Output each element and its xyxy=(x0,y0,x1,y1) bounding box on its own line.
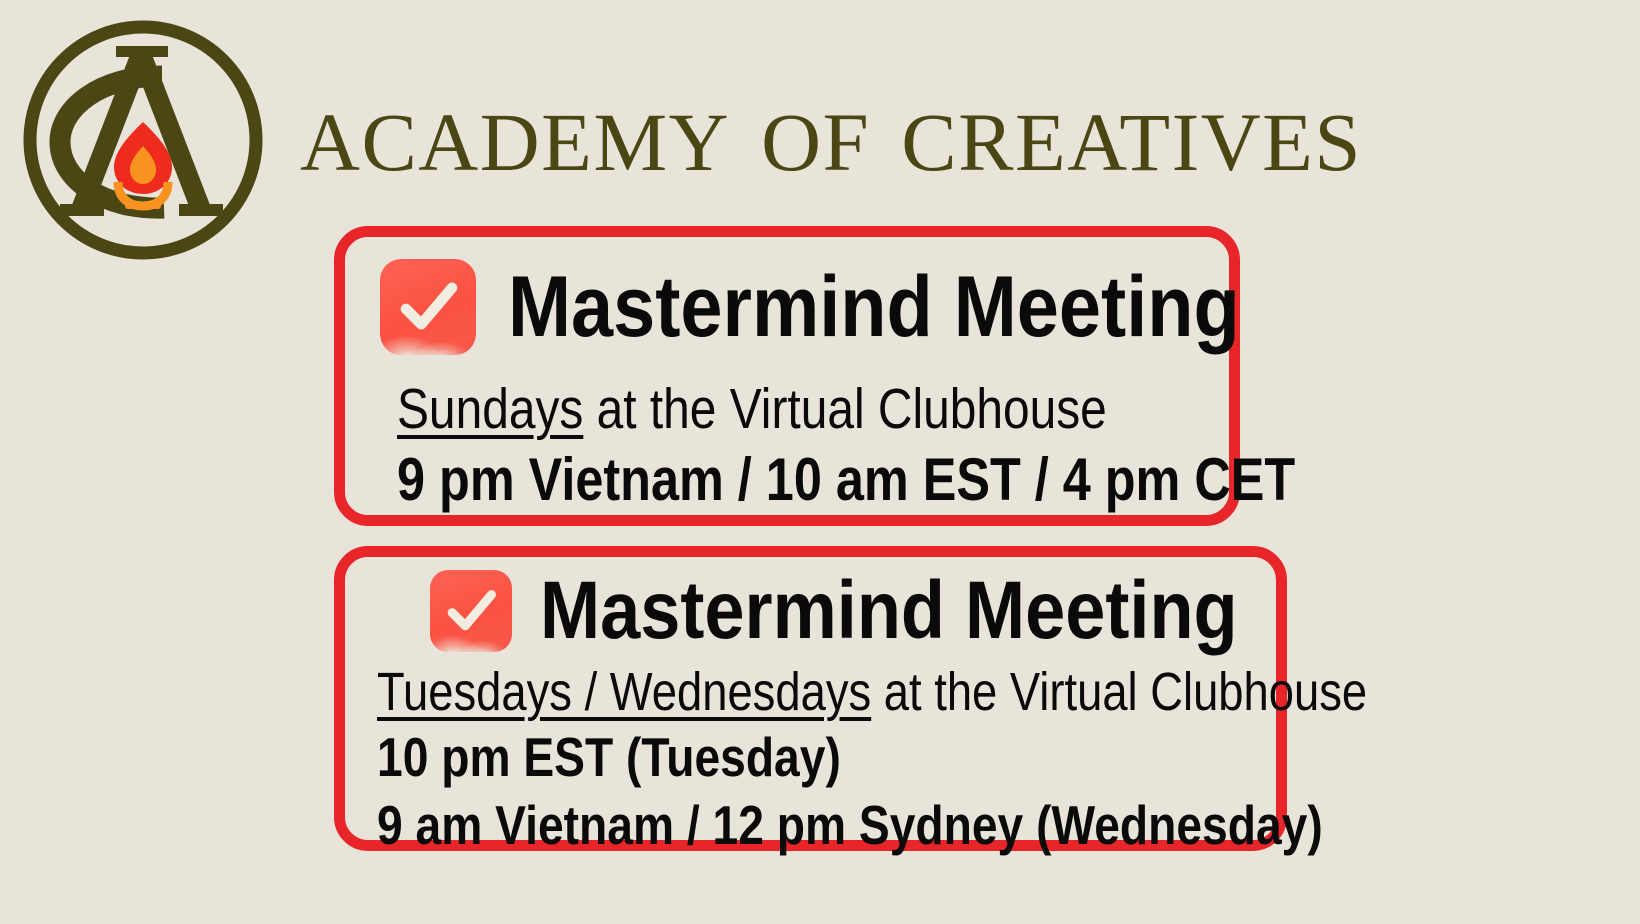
card-title: Mastermind Meeting xyxy=(508,261,1240,353)
checkbox-checked-icon xyxy=(380,259,476,355)
schedule-line-times-wednesday: 9 am Vietnam / 12 pm Sydney (Wednesday) xyxy=(377,791,1367,859)
card-header: Mastermind Meeting xyxy=(380,259,1339,355)
schedule-location: at the Virtual Clubhouse xyxy=(583,377,1106,441)
page-title: Academy of Creatives xyxy=(300,62,1636,202)
schedule-line-times-tuesday: 10 pm EST (Tuesday) xyxy=(377,723,1367,791)
checkbox-checked-icon xyxy=(430,570,512,652)
meeting-card-sunday: Mastermind Meeting Sundays at the Virtua… xyxy=(334,226,1240,526)
poster-canvas: Academy of Creatives Mastermind Meeting … xyxy=(0,0,1640,924)
schedule-day-underlined: Sundays xyxy=(397,377,583,441)
schedule-location: at the Virtual Clubhouse xyxy=(871,662,1367,722)
schedule-line-day: Tuesdays / Wednesdays at the Virtual Clu… xyxy=(377,661,1367,723)
schedule-line-day: Sundays at the Virtual Clubhouse xyxy=(397,377,1295,441)
card-title: Mastermind Meeting xyxy=(540,567,1238,655)
card-body: Sundays at the Virtual Clubhouse 9 pm Vi… xyxy=(397,377,1466,519)
academy-of-creatives-monogram-icon xyxy=(12,14,274,266)
schedule-day-underlined: Tuesdays / Wednesdays xyxy=(377,662,871,722)
card-body: Tuesdays / Wednesdays at the Virtual Clu… xyxy=(377,661,1556,859)
meeting-card-tuesday-wednesday: Mastermind Meeting Tuesdays / Wednesdays… xyxy=(334,546,1287,851)
schedule-line-times: 9 pm Vietnam / 10 am EST / 4 pm CET xyxy=(397,441,1295,519)
card-header: Mastermind Meeting xyxy=(430,567,1333,655)
